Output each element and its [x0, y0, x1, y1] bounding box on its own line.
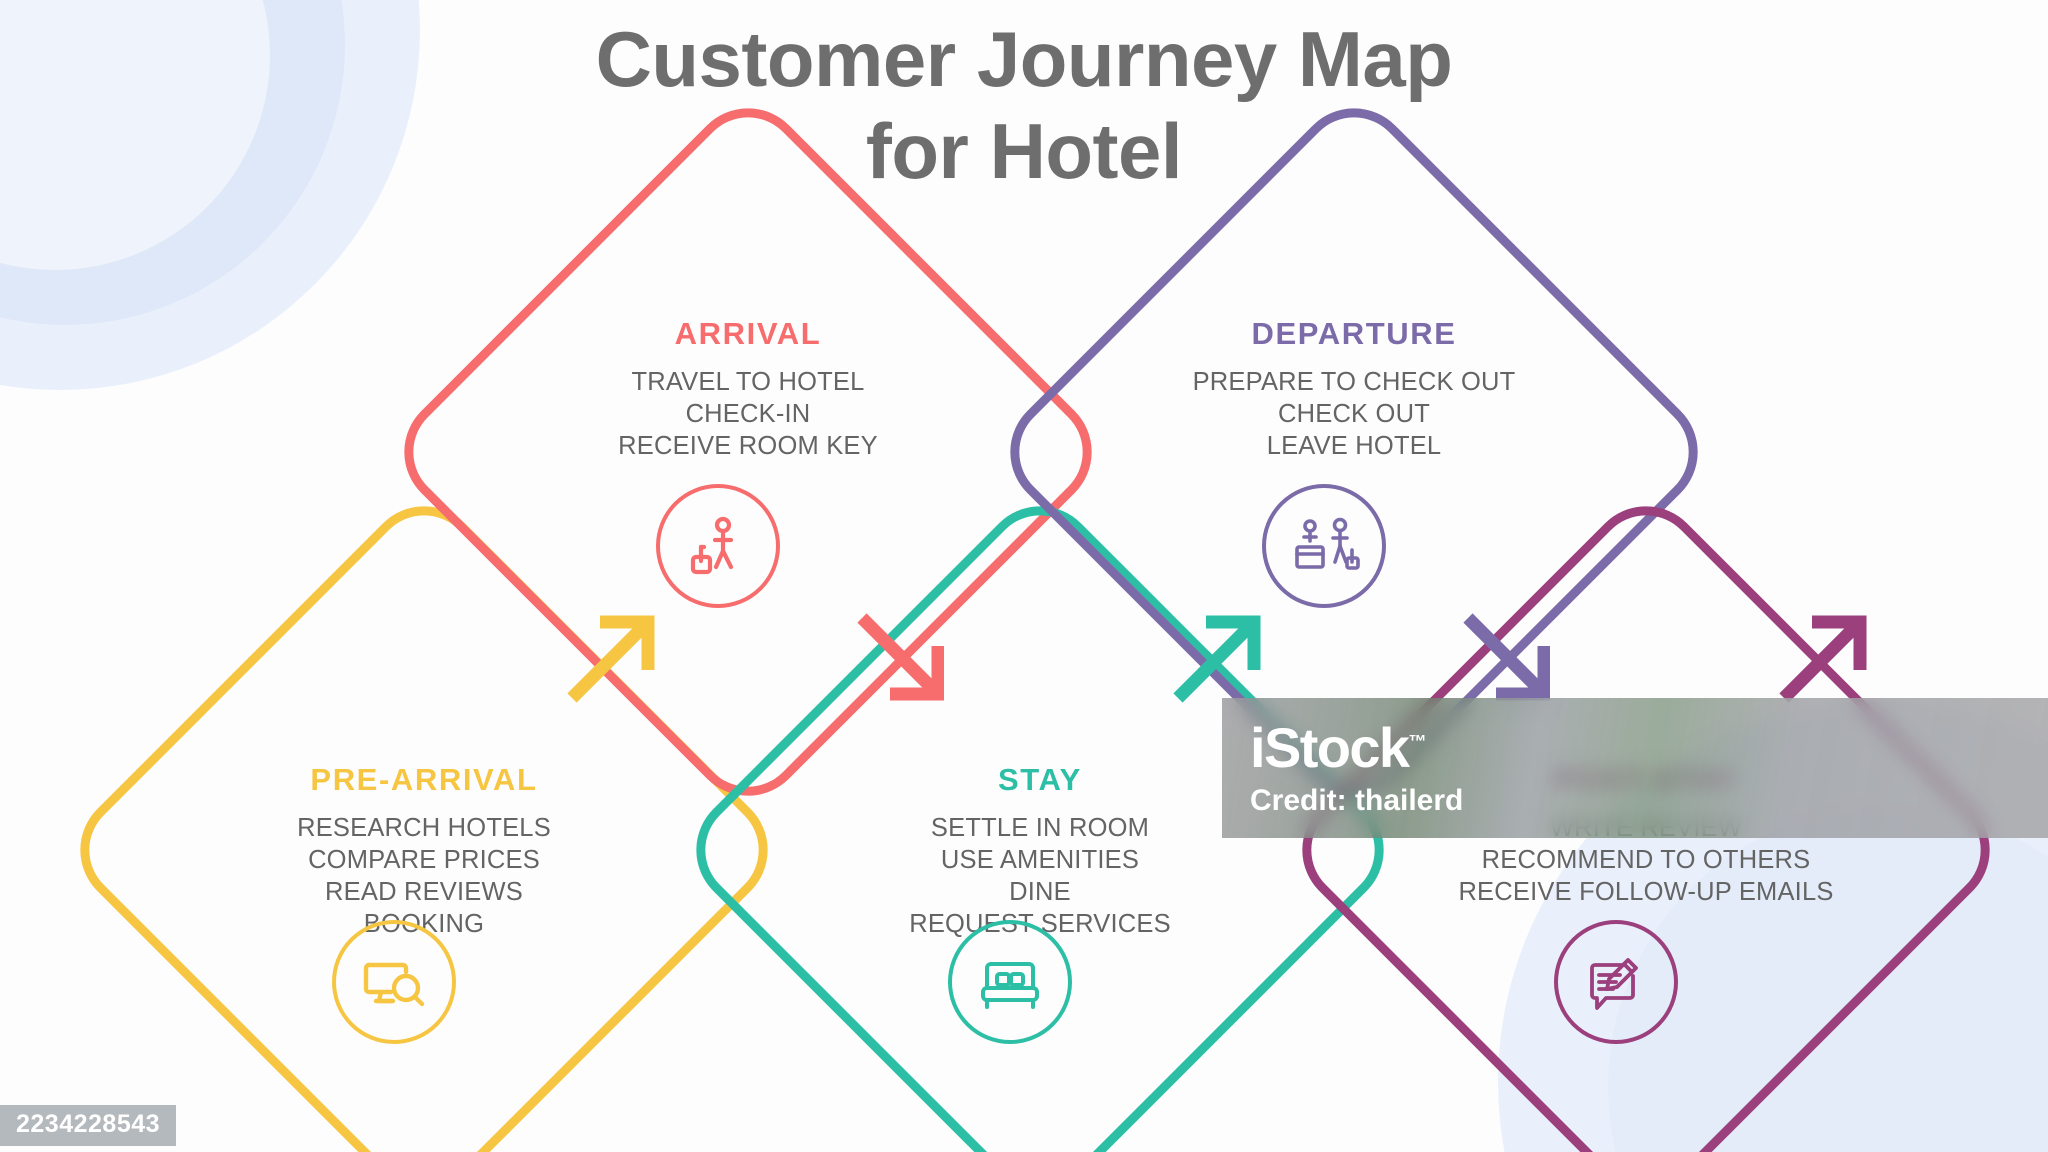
page-title-line-1: Customer Journey Map	[596, 15, 1453, 103]
watermark-credit: Credit: thailerd	[1250, 786, 2048, 816]
stage-list-arrival: TRAVEL TO HOTEL CHECK-IN RECEIVE ROOM KE…	[618, 366, 878, 462]
list-item: USE AMENITIES	[909, 844, 1171, 876]
list-item: CHECK-IN	[618, 398, 878, 430]
istock-watermark: iStock™ Credit: thailerd	[1222, 698, 2048, 838]
list-item: TRAVEL TO HOTEL	[618, 366, 878, 398]
bed-icon	[948, 920, 1072, 1044]
asset-id-badge: 2234228543	[0, 1105, 176, 1146]
list-item: CHECK OUT	[1193, 398, 1516, 430]
arrow-departure-to-post-stay	[1458, 612, 1550, 704]
list-item: RECEIVE FOLLOW-UP EMAILS	[1458, 876, 1833, 908]
stage-heading-arrival: ARRIVAL	[675, 316, 822, 352]
stage-heading-pre-arrival: PRE-ARRIVAL	[310, 762, 537, 798]
stage-heading-departure: DEPARTURE	[1251, 316, 1456, 352]
arrow-post-stay-onward	[1778, 612, 1870, 704]
list-item: PREPARE TO CHECK OUT	[1193, 366, 1516, 398]
infographic-canvas: Customer Journey Map for Hotel PRE-ARRIV…	[0, 0, 2048, 1152]
reception-checkout-icon	[1262, 484, 1386, 608]
monitor-search-icon	[332, 920, 456, 1044]
review-pencil-icon	[1554, 920, 1678, 1044]
traveler-luggage-icon	[656, 484, 780, 608]
list-item: SETTLE IN ROOM	[909, 812, 1171, 844]
arrow-pre-to-arrival	[566, 612, 658, 704]
page-title: Customer Journey Map for Hotel	[0, 20, 2048, 190]
list-item: COMPARE PRICES	[297, 844, 551, 876]
list-item: RESEARCH HOTELS	[297, 812, 551, 844]
list-item: READ REVIEWS	[297, 876, 551, 908]
stage-list-stay: SETTLE IN ROOM USE AMENITIES DINE REQUES…	[909, 812, 1171, 941]
list-item: RECOMMEND TO OTHERS	[1458, 844, 1833, 876]
trademark-icon: ™	[1408, 731, 1426, 751]
page-title-line-2: for Hotel	[0, 112, 2048, 190]
arrow-stay-to-departure	[1172, 612, 1264, 704]
stage-heading-stay: STAY	[998, 762, 1082, 798]
list-item: RECEIVE ROOM KEY	[618, 430, 878, 462]
istock-logo: iStock™	[1250, 720, 2048, 776]
arrow-arrival-to-stay	[852, 612, 944, 704]
stage-list-departure: PREPARE TO CHECK OUT CHECK OUT LEAVE HOT…	[1193, 366, 1516, 462]
istock-logo-text: iStock	[1250, 716, 1408, 779]
list-item: LEAVE HOTEL	[1193, 430, 1516, 462]
stage-list-pre-arrival: RESEARCH HOTELS COMPARE PRICES READ REVI…	[297, 812, 551, 941]
list-item: DINE	[909, 876, 1171, 908]
